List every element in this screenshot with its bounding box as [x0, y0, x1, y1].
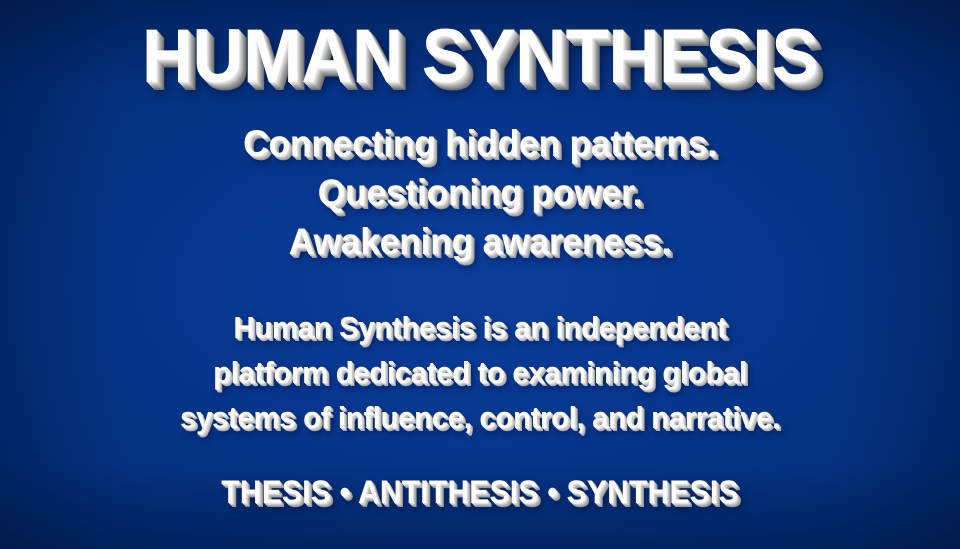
- description-line-1: Human Synthesis is an independent: [24, 305, 936, 350]
- description-line-3: systems of influence, control, and narra…: [24, 395, 936, 440]
- motto-footer: THESIS • ANTITHESIS • SYNTHESIS: [34, 440, 927, 508]
- tagline-line-1: Connecting hidden patterns.: [19, 119, 941, 168]
- human-synthesis-banner: HUMAN SYNTHESIS Connecting hidden patter…: [0, 0, 960, 549]
- banner-content: HUMAN SYNTHESIS Connecting hidden patter…: [0, 0, 960, 508]
- description-line-2: platform dedicated to examining global: [24, 350, 936, 395]
- motto-text: THESIS • ANTITHESIS • SYNTHESIS: [34, 476, 927, 508]
- tagline-block: Connecting hidden patterns. Questioning …: [19, 95, 941, 266]
- page-title: HUMAN SYNTHESIS: [34, 0, 927, 95]
- tagline-line-3: Awakening awareness.: [19, 217, 941, 266]
- tagline-line-2: Questioning power.: [19, 168, 941, 217]
- description-block: Human Synthesis is an independent platfo…: [24, 266, 936, 440]
